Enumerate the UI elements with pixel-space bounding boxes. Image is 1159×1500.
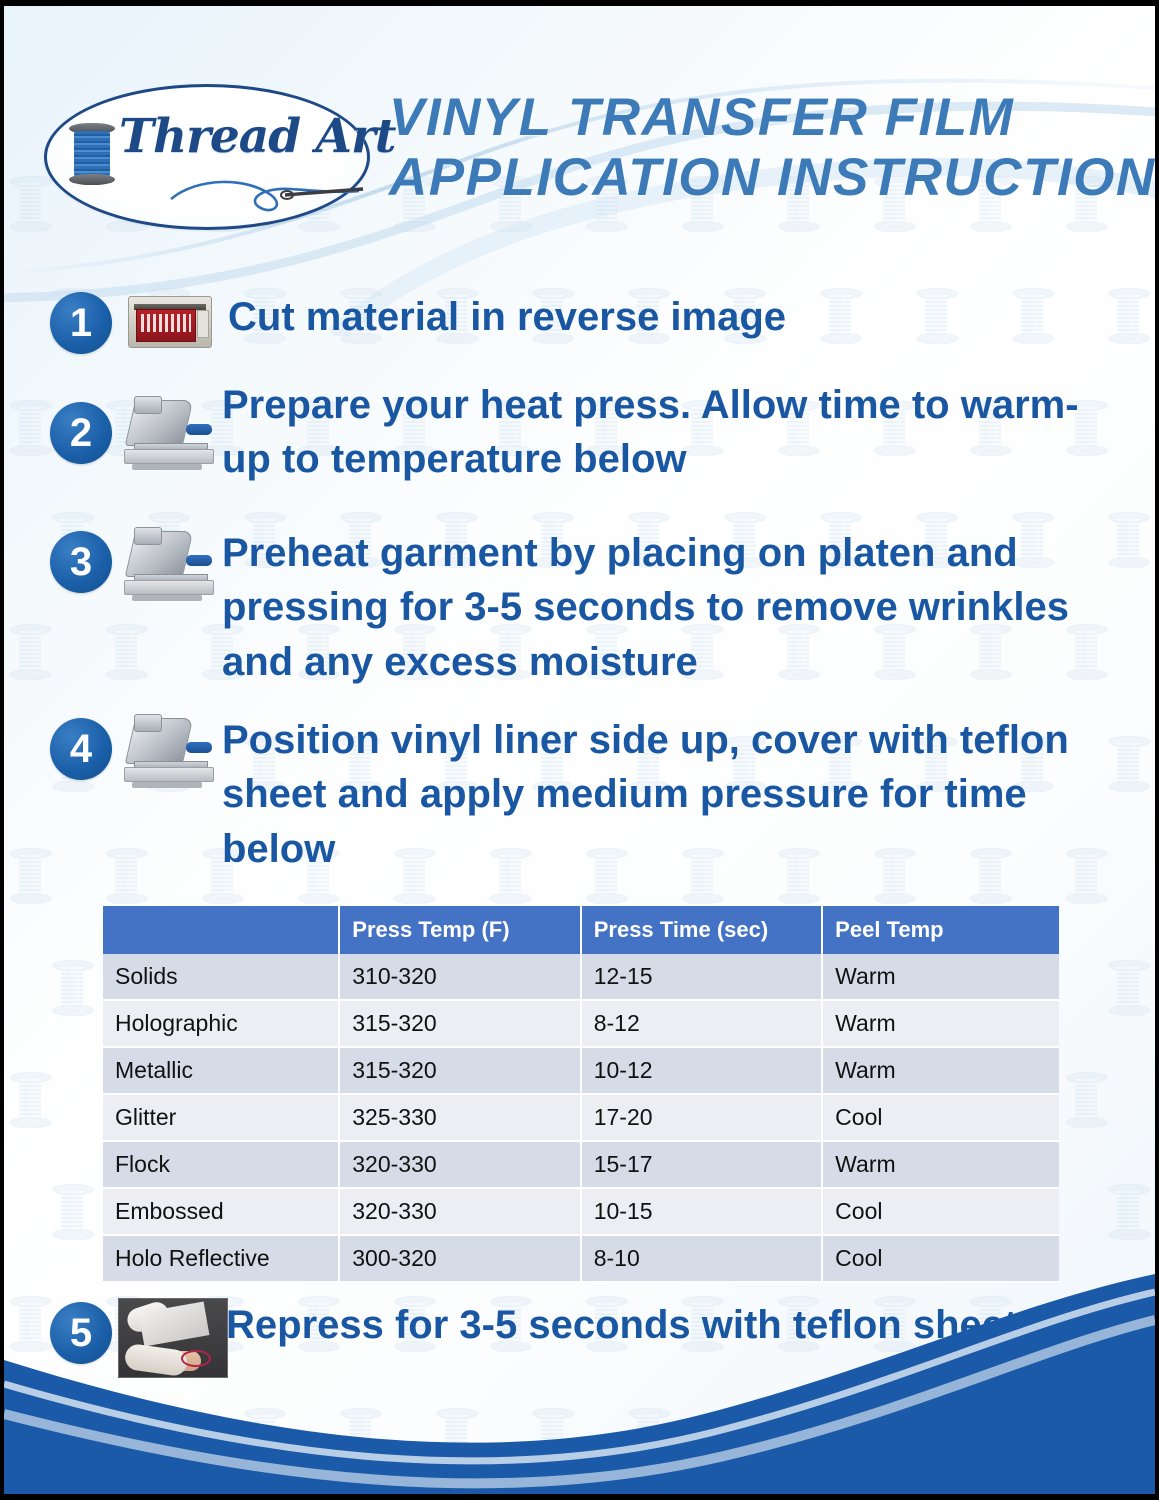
table-header-press-time: Press Time (sec) [582,906,823,954]
table-cell: Glitter [103,1095,340,1142]
spool-watermark-tile [1108,736,1148,792]
table-cell: 17-20 [582,1095,823,1142]
logo-spool-icon [69,123,115,185]
spool-watermark-tile [10,848,50,904]
table-cell: 320-330 [340,1189,581,1236]
table-cell: 315-320 [340,1001,581,1048]
step-2-text: Prepare your heat press. Allow time to w… [222,378,1092,487]
table-cell: Warm [823,954,1059,1001]
table-cell: Metallic [103,1048,340,1095]
spool-watermark-tile [1108,1184,1148,1240]
table-cell: Warm [823,1048,1059,1095]
table-header-peel-temp: Peel Temp [823,906,1059,954]
table-cell: Holographic [103,1001,340,1048]
vinyl-cutter-icon [128,296,212,348]
table-header-press-temp: Press Temp (F) [340,906,581,954]
spool-watermark-tile [10,176,50,232]
spool-watermark-tile [1108,512,1148,568]
heat-press-icon [120,394,216,470]
table-row: Flock320-33015-17Warm [103,1142,1059,1189]
spool-watermark-tile [1108,960,1148,1016]
table-cell: 310-320 [340,954,581,1001]
spool-watermark-tile [52,1184,92,1240]
table-cell: Cool [823,1095,1059,1142]
threadart-logo: Thread Art [44,84,370,230]
table-cell: Solids [103,954,340,1001]
table-cell: Warm [823,1142,1059,1189]
table-cell: Cool [823,1189,1059,1236]
step-2-number: 2 [50,402,112,464]
table-cell: 315-320 [340,1048,581,1095]
step-3-text: Preheat garment by placing on platen and… [222,526,1112,689]
table-cell: 12-15 [582,954,823,1001]
step-1-text: Cut material in reverse image [228,290,1058,344]
step-3-number: 3 [50,531,112,593]
table-cell: 325-330 [340,1095,581,1142]
spool-watermark-tile [10,400,50,456]
spool-watermark-tile [10,624,50,680]
step-4-number: 4 [50,718,112,780]
spool-watermark-tile [1066,1072,1106,1128]
instruction-poster: Thread Art VINYL TRANSFER FILM APPLICATI… [4,6,1155,1494]
table-cell: 8-12 [582,1001,823,1048]
table-header-material [103,906,340,954]
spool-watermark-tile [52,960,92,1016]
table-header-row: Press Temp (F) Press Time (sec) Peel Tem… [103,906,1059,954]
table-cell: 320-330 [340,1142,581,1189]
table-cell: Flock [103,1142,340,1189]
table-cell: Embossed [103,1189,340,1236]
table-cell: 10-12 [582,1048,823,1095]
page-title: VINYL TRANSFER FILM APPLICATION INSTRUCT… [389,88,1089,209]
table-row: Embossed320-33010-15Cool [103,1189,1059,1236]
table-row: Holographic315-3208-12Warm [103,1001,1059,1048]
table-row: Metallic315-32010-12Warm [103,1048,1059,1095]
table-body: Solids310-32012-15WarmHolographic315-320… [103,954,1059,1283]
title-line-2: APPLICATION INSTRUCTIONS [389,148,1089,208]
spool-watermark-tile [10,1072,50,1128]
spool-watermark-tile [1108,288,1148,344]
heat-press-icon [120,525,216,601]
application-settings-table: Press Temp (F) Press Time (sec) Peel Tem… [103,906,1059,1283]
table-cell: Warm [823,1001,1059,1048]
table-row: Solids310-32012-15Warm [103,954,1059,1001]
logo-thread-swirl-icon [167,169,367,217]
table-row: Glitter325-33017-20Cool [103,1095,1059,1142]
footer-wave-decoration [4,1264,1155,1494]
spool-watermark-tile [106,624,146,680]
step-1-number: 1 [50,292,112,354]
table-cell: 10-15 [582,1189,823,1236]
title-line-1: VINYL TRANSFER FILM [389,88,1089,148]
table-cell: 15-17 [582,1142,823,1189]
heat-press-icon [120,712,216,788]
spool-watermark-tile [106,848,146,904]
step-4-text: Position vinyl liner side up, cover with… [222,713,1082,876]
